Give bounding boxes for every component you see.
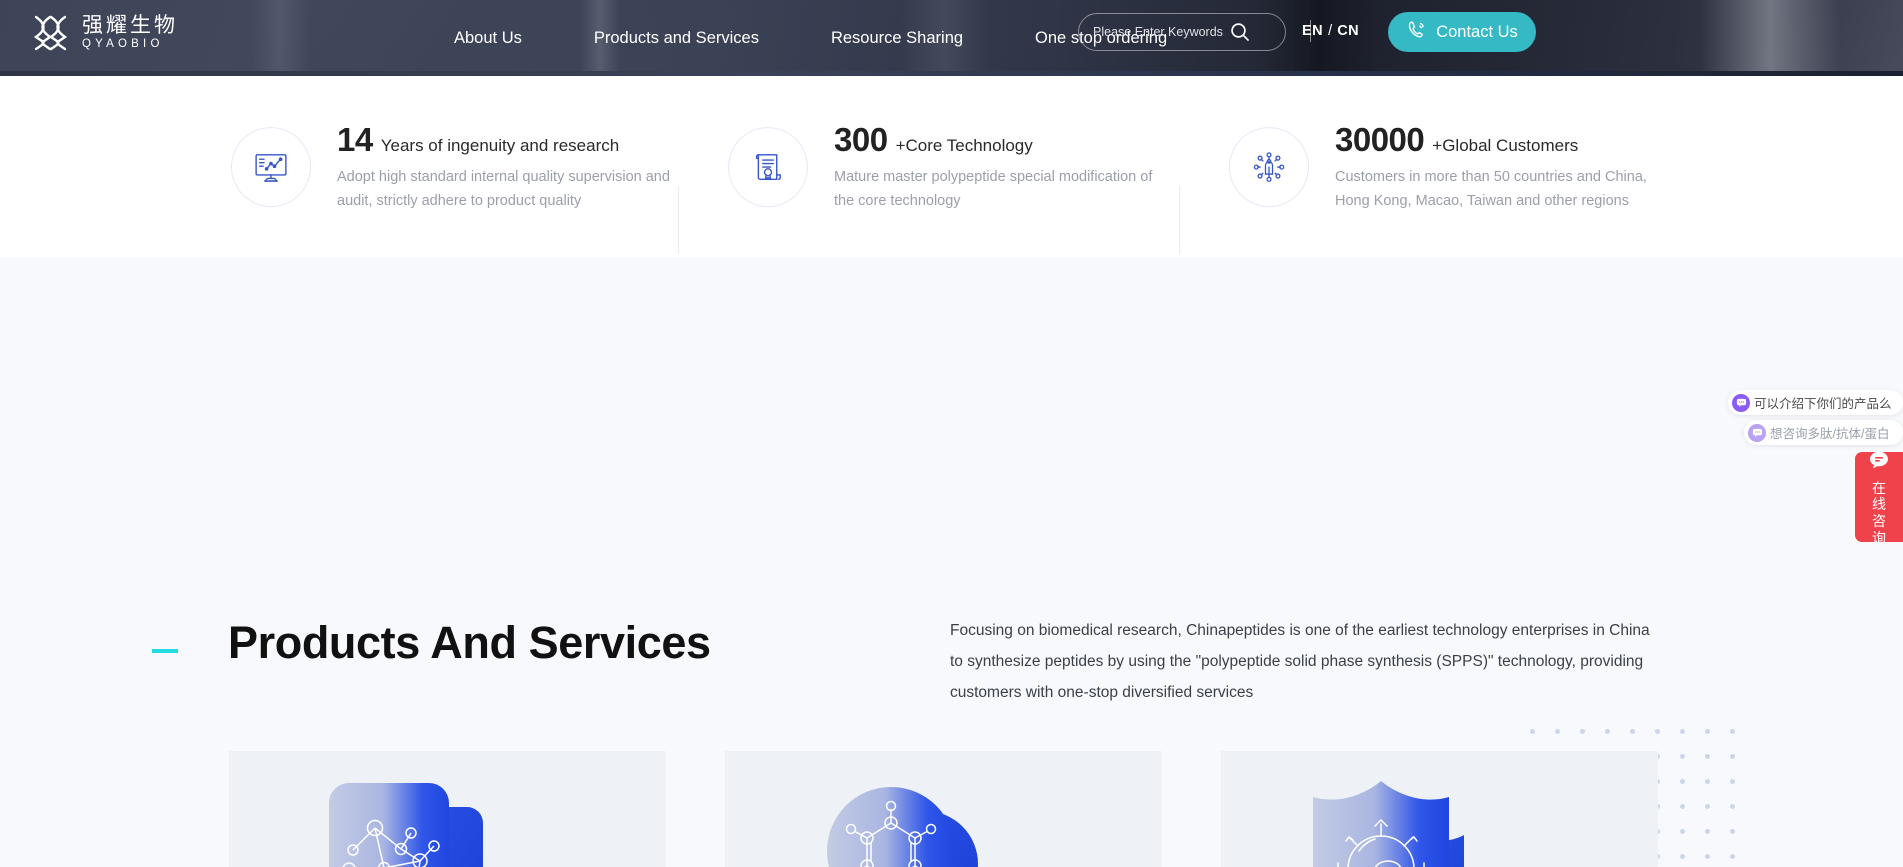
product-card-preparation-of-antibody[interactable]: Preparation of antibody With domestic ma… (1221, 751, 1658, 867)
contact-us-label: Contact Us (1436, 24, 1518, 41)
chat-bubble-text: 可以介绍下你们的产品么 (1754, 393, 1892, 412)
decorative-dot (1680, 829, 1685, 834)
decorative-dot (1705, 804, 1710, 809)
nav-item-resource-sharing[interactable]: Resource Sharing (795, 30, 999, 47)
header-photo-streak (1700, 0, 1840, 76)
decorative-dot (1580, 729, 1585, 734)
network-person-icon (1229, 127, 1309, 207)
decorative-dot (1530, 729, 1535, 734)
section-title: Products And Services (228, 615, 711, 671)
chat-message-icon (1748, 424, 1766, 442)
decorative-dot (1730, 729, 1735, 734)
chat-message-icon (1732, 394, 1750, 412)
nav-item-about-us[interactable]: About Us (454, 30, 558, 47)
shield-virus-icon (1221, 751, 1658, 867)
stat-number: 300 (834, 123, 888, 156)
site-header: 强耀生物 QYAOBIO About Us Products and Servi… (0, 0, 1903, 76)
certificate-icon (728, 127, 808, 207)
search-box[interactable] (1078, 13, 1286, 51)
online-consultation-button[interactable]: 在线咨询 (1855, 452, 1903, 542)
stats-strip: 14 Years of ingenuity and research Adopt… (0, 76, 1903, 257)
decorative-dot (1705, 729, 1710, 734)
decorative-dot (1680, 854, 1685, 859)
stat-description: Adopt high standard internal quality sup… (337, 165, 677, 215)
section-accent-dash (152, 649, 178, 653)
search-icon[interactable] (1229, 21, 1251, 43)
product-card-synthesis-of-polypeptide[interactable]: Synthesis of polypeptide With advanced p… (229, 751, 666, 867)
header-photo-streak (250, 0, 310, 76)
stat-number: 14 (337, 123, 373, 156)
stat-item-global-customers: 30000 +Global Customers Customers in mor… (1229, 119, 1675, 215)
chat-message-icon (1867, 448, 1891, 477)
stat-unit: +Global Customers (1432, 137, 1578, 154)
decorative-dot (1680, 779, 1685, 784)
language-switcher[interactable]: EN / CN (1302, 23, 1359, 39)
stat-divider (678, 186, 679, 254)
contact-us-button[interactable]: Contact Us (1388, 12, 1536, 52)
phone-icon (1406, 19, 1427, 45)
decorative-dot (1730, 829, 1735, 834)
molecule-network-icon (229, 751, 666, 867)
decorative-dot (1705, 854, 1710, 859)
search-input[interactable] (1079, 25, 1227, 39)
logo-text-cn: 强耀生物 (82, 15, 178, 36)
chat-bubble-text: 想咨询多肽/抗体/蛋白 (1770, 423, 1889, 442)
benzene-ring-icon (725, 751, 1162, 867)
stat-description: Customers in more than 50 countries and … (1335, 165, 1675, 215)
chat-bubble[interactable]: 想咨询多肽/抗体/蛋白 (1744, 420, 1903, 445)
language-option-en[interactable]: EN (1302, 23, 1323, 39)
stat-unit: Years of ingenuity and research (381, 137, 619, 154)
stat-description: Mature master polypeptide special modifi… (834, 165, 1174, 215)
decorative-dot (1730, 779, 1735, 784)
nav-item-products-and-services[interactable]: Products and Services (558, 30, 795, 47)
chat-preview-bubbles: 可以介绍下你们的产品么 想咨询多肽/抗体/蛋白 (1728, 390, 1903, 450)
decorative-dot (1655, 729, 1660, 734)
stat-number: 30000 (1335, 123, 1424, 156)
logo-text-en: QYAOBIO (82, 39, 178, 51)
decorative-dot (1680, 804, 1685, 809)
chat-bubble[interactable]: 可以介绍下你们的产品么 (1728, 390, 1903, 415)
stat-item-core-technology: 300 +Core Technology Mature master polyp… (728, 119, 1174, 215)
online-consultation-label: 在线咨询 (1869, 480, 1889, 546)
decorative-dot (1605, 729, 1610, 734)
stat-unit: +Core Technology (896, 137, 1033, 154)
dna-helix-icon (30, 12, 71, 53)
site-logo[interactable]: 强耀生物 QYAOBIO (30, 12, 178, 53)
section-description: Focusing on biomedical research, Chinape… (950, 615, 1650, 708)
monitor-chart-icon (231, 127, 311, 207)
decorative-dot (1680, 754, 1685, 759)
decorative-dot (1705, 829, 1710, 834)
product-card-expression-of-protein[interactable]: Expression of protein With a variety of … (725, 751, 1162, 867)
language-separator: / (1328, 23, 1332, 39)
decorative-dot (1730, 854, 1735, 859)
decorative-dot (1730, 754, 1735, 759)
decorative-dot (1705, 754, 1710, 759)
products-and-services-section: Products And Services Focusing on biomed… (0, 257, 1903, 867)
stat-item-years: 14 Years of ingenuity and research Adopt… (231, 119, 677, 215)
language-option-cn[interactable]: CN (1337, 23, 1359, 39)
decorative-dot (1705, 779, 1710, 784)
decorative-dot (1730, 804, 1735, 809)
decorative-dot (1555, 729, 1560, 734)
stat-divider (1179, 186, 1180, 254)
decorative-dot (1680, 729, 1685, 734)
decorative-dot (1630, 729, 1635, 734)
